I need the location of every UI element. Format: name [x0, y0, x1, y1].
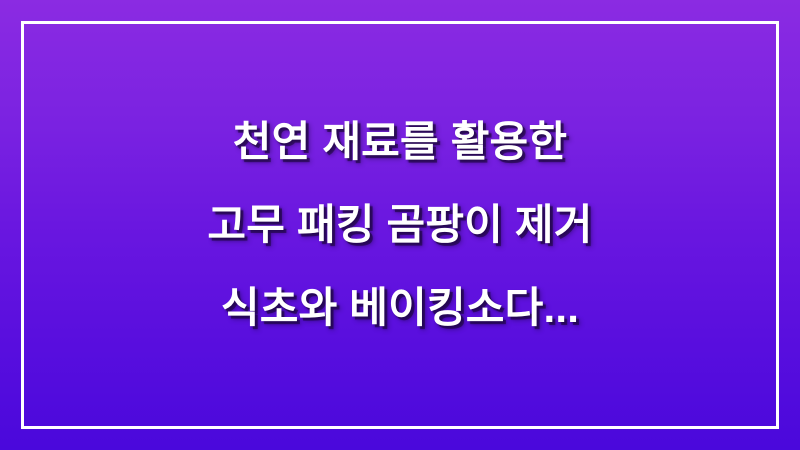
- title-block: 천연 재료를 활용한 고무 패킹 곰팡이 제거 식초와 베이킹소다...: [0, 0, 800, 450]
- title-line-3: 식초와 베이킹소다...: [221, 287, 579, 329]
- title-line-1: 천연 재료를 활용한: [233, 121, 567, 163]
- title-line-2: 고무 패킹 곰팡이 제거: [207, 204, 592, 246]
- thumbnail-card: 천연 재료를 활용한 고무 패킹 곰팡이 제거 식초와 베이킹소다...: [0, 0, 800, 450]
